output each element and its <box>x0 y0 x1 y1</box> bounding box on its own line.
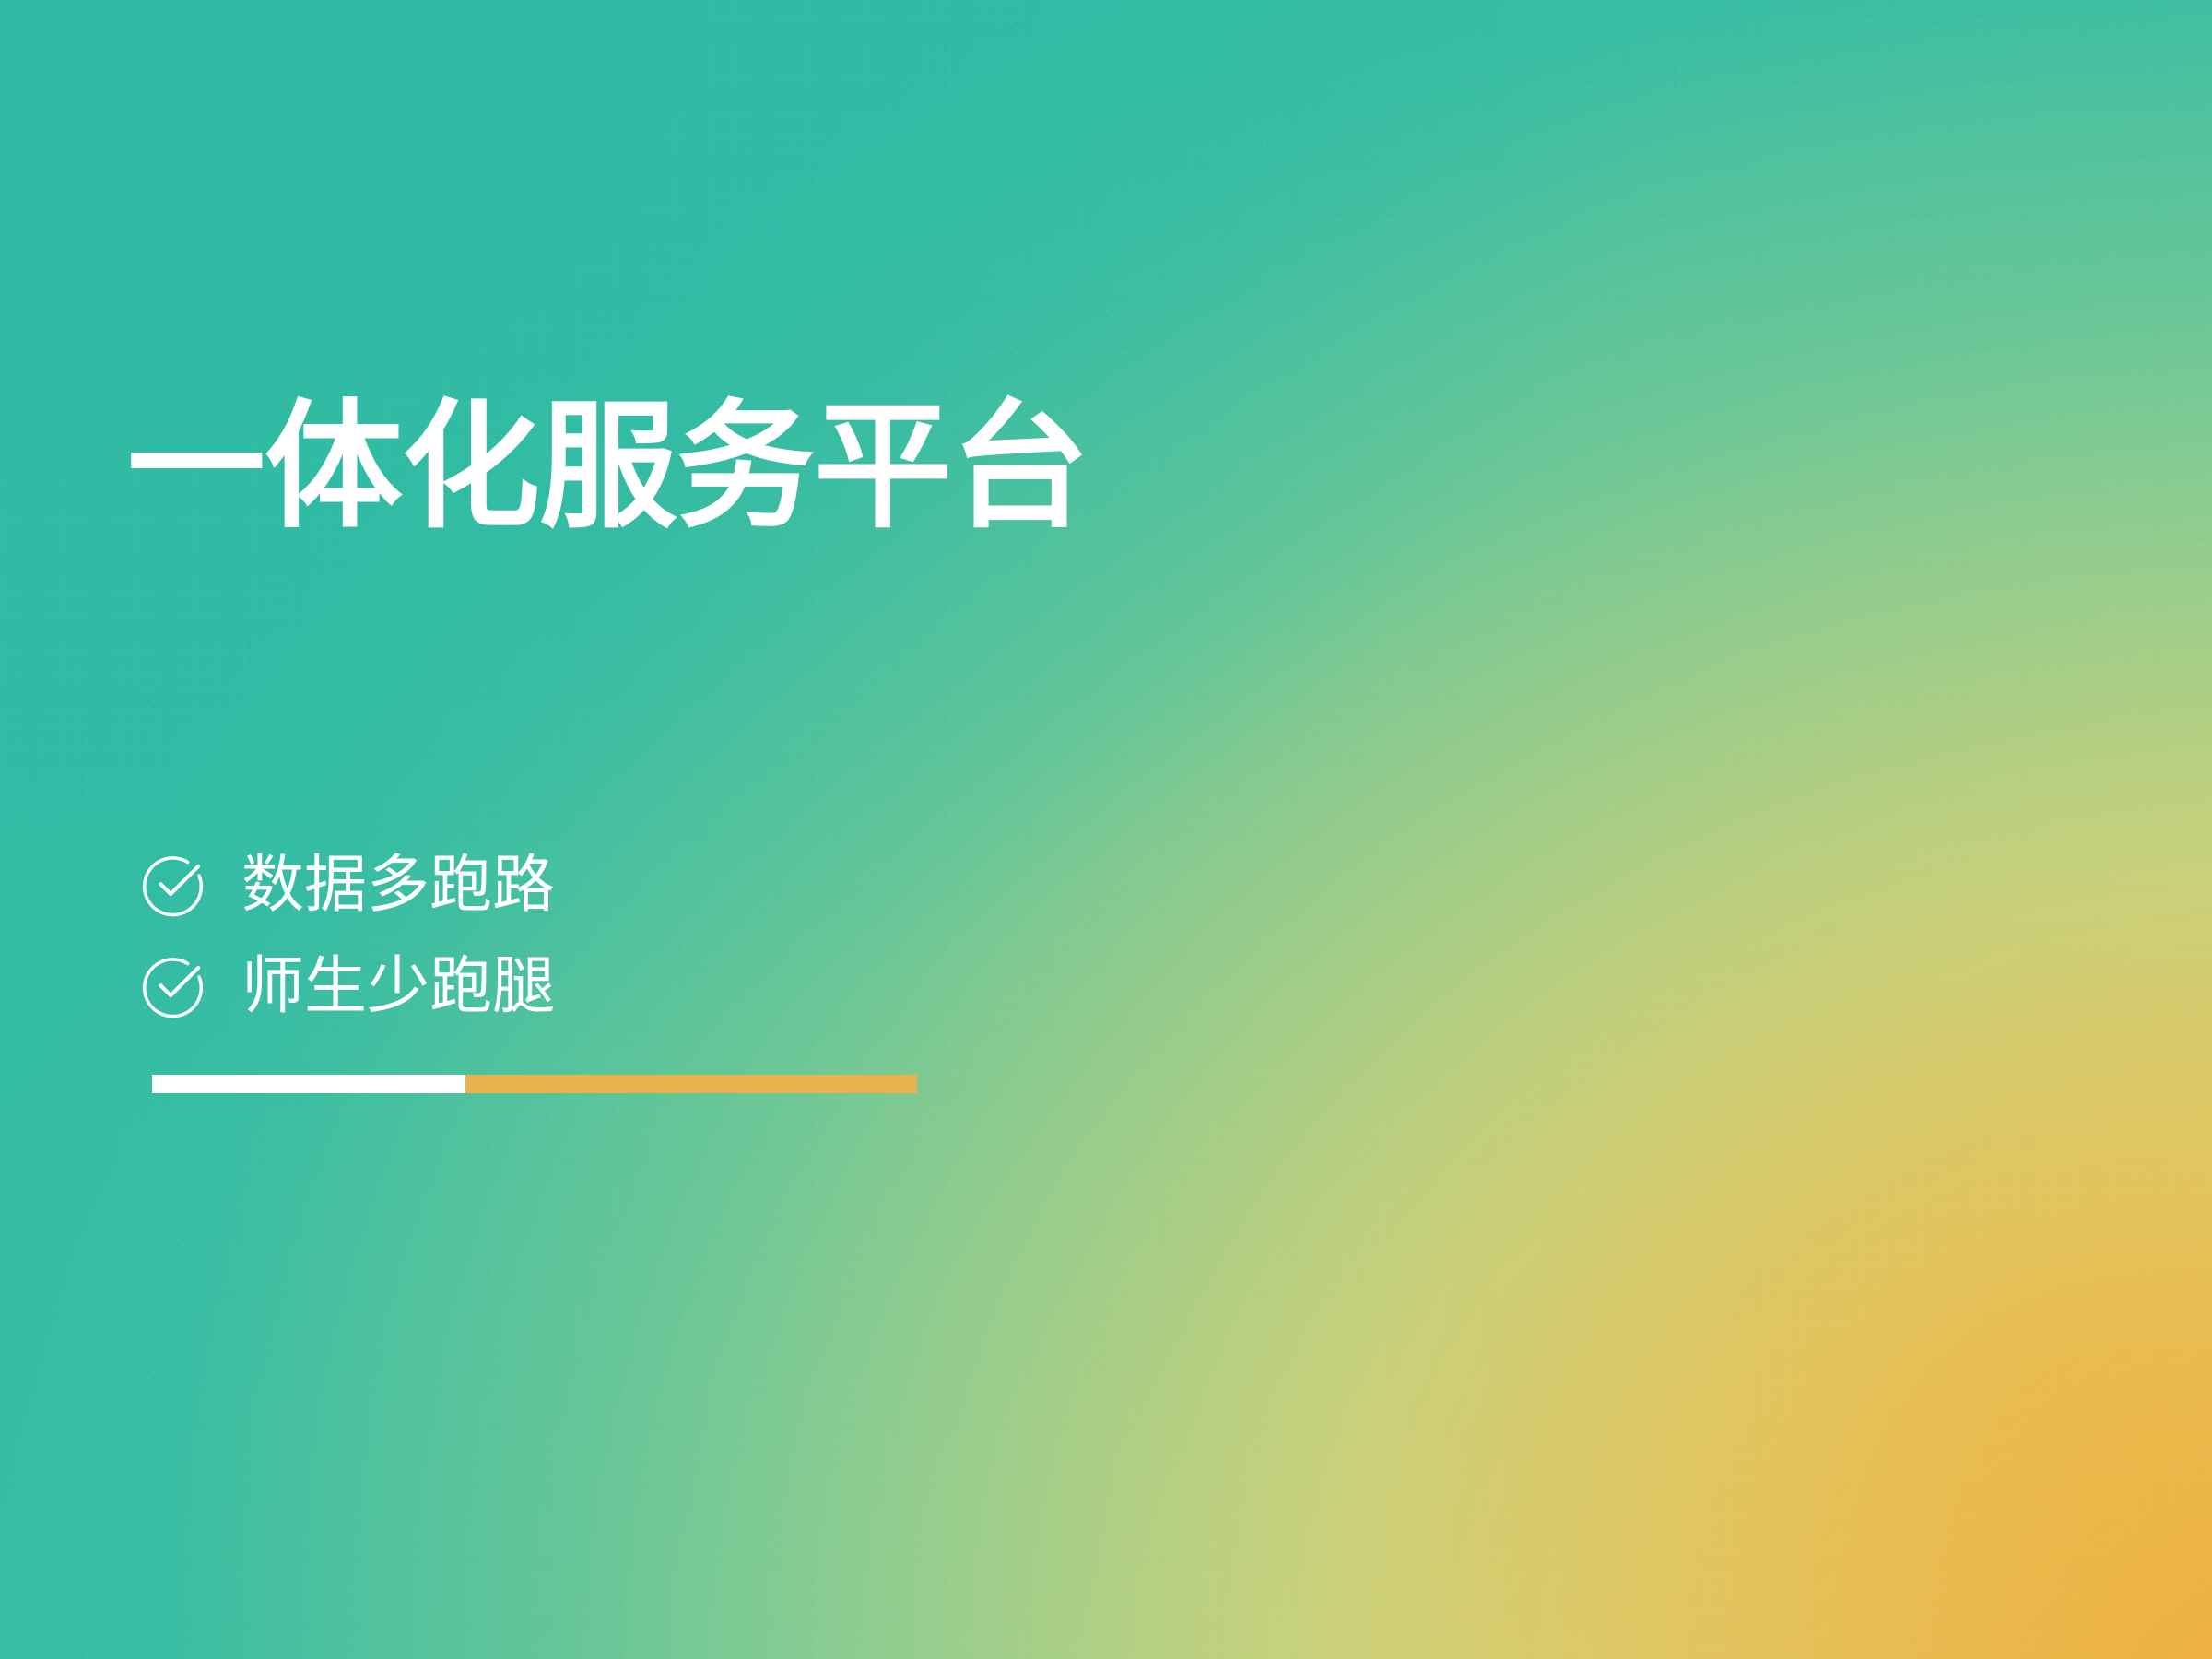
progress-segment-white <box>152 1075 465 1093</box>
page-title: 一体化服务平台 <box>127 392 1088 541</box>
slide-content: 一体化服务平台 数据多跑路 师生少跑腿 <box>0 0 2212 1659</box>
presentation-slide: 一体化服务平台 数据多跑路 师生少跑腿 <box>0 0 2212 1659</box>
list-item-label: 师生少跑腿 <box>241 955 555 1018</box>
list-item: 师生少跑腿 <box>140 935 555 1037</box>
circle-check-icon <box>140 851 208 919</box>
list-item: 数据多跑路 <box>140 834 555 935</box>
list-item-label: 数据多跑路 <box>241 853 555 916</box>
progress-segment-accent <box>465 1075 917 1093</box>
circle-check-icon <box>140 952 208 1020</box>
progress-bar <box>152 1075 917 1093</box>
bullet-list: 数据多跑路 师生少跑腿 <box>140 834 555 1037</box>
